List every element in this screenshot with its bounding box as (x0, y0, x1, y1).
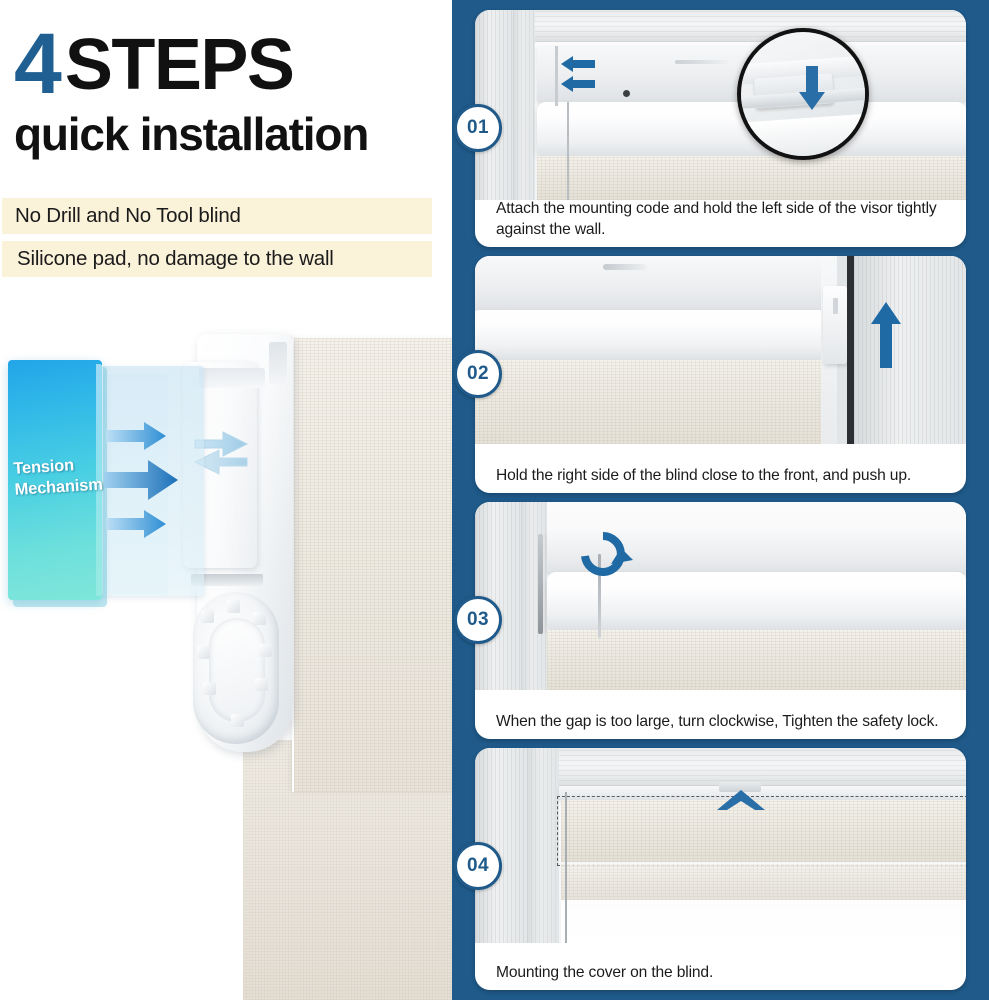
infographic-page: 4STEPS quick installation No Drill and N… (0, 0, 989, 1000)
blind-fabric (547, 630, 966, 690)
screw-hole (623, 90, 630, 97)
step-photo-02 (475, 256, 966, 444)
tension-mechanism-label: Tension Mechanism (13, 453, 109, 501)
highlight-bar-no-drill: No Drill and No Tool blind (2, 198, 432, 234)
leader-line (567, 102, 569, 200)
window-frame-inner (521, 502, 547, 690)
step-badge-04: 04 (454, 842, 502, 890)
wheel-tooth (231, 714, 244, 727)
blind-fabric (475, 360, 821, 444)
valance-tube (475, 310, 827, 362)
blind-fabric (537, 156, 966, 200)
blind-left-edge (565, 792, 567, 943)
tension-arrow-icon (104, 414, 184, 554)
step-caption-01: Attach the mounting code and hold the le… (496, 199, 952, 240)
step-caption-03: When the gap is too large, turn clockwis… (496, 712, 952, 732)
window-frame-inner (513, 10, 535, 200)
mount-up-arrow-icon (717, 790, 765, 812)
magnifier-down-arrow-icon (799, 66, 825, 110)
safety-lock-pin (538, 534, 543, 634)
highlight-text-2: Silicone pad, no damage to the wall (17, 247, 334, 271)
bracket-top-post (269, 342, 287, 384)
clockwise-rotate-arrow-icon (577, 530, 633, 576)
page-subtitle: quick installation (14, 108, 434, 161)
bracket-wheel-hub (209, 618, 265, 722)
step-badge-01: 01 (454, 104, 502, 152)
left-panel: 4STEPS quick installation No Drill and N… (0, 0, 452, 1000)
push-up-arrow-icon (871, 302, 901, 368)
wheel-tooth (259, 644, 272, 657)
valance-tube (547, 572, 966, 632)
step-card-02: Hold the right side of the blind close t… (475, 256, 966, 493)
window-frame-inner (527, 748, 559, 943)
wheel-tooth (227, 600, 240, 613)
step-card-03: When the gap is too large, turn clockwis… (475, 502, 966, 739)
highlight-bar-silicone-pad: Silicone pad, no damage to the wall (2, 241, 432, 277)
left-push-arrows-icon (561, 56, 597, 96)
mounting-clip (675, 60, 733, 64)
cover-clip (603, 264, 647, 270)
tension-mechanism-diagram: Tension Mechanism (8, 360, 208, 610)
step-caption-02: Hold the right side of the blind close t… (496, 466, 952, 486)
wheel-tooth (197, 646, 210, 659)
blind-fabric (561, 864, 966, 900)
page-title: 4STEPS (14, 24, 434, 106)
step-photo-01 (475, 10, 966, 200)
wheel-tooth (203, 682, 216, 695)
bracket-slot (199, 368, 265, 388)
bracket-roller-wheel (193, 592, 279, 744)
step-badge-02: 02 (454, 350, 502, 398)
steps-panel: Attach the mounting code and hold the le… (452, 0, 989, 1000)
blind-fabric-slab (292, 338, 452, 792)
step-card-04: Mounting the cover on the blind. (475, 748, 966, 990)
window-glass (561, 900, 966, 943)
headrail (475, 256, 821, 312)
highlight-text-1: No Drill and No Tool blind (15, 204, 241, 228)
step-card-01: Attach the mounting code and hold the le… (475, 10, 966, 247)
magnified-base (737, 112, 869, 160)
wheel-tooth (201, 610, 214, 623)
wheel-tooth (255, 678, 268, 691)
wheel-tooth (253, 612, 266, 625)
title-word: STEPS (65, 25, 294, 105)
window-frame-top (535, 10, 966, 42)
title-number: 4 (14, 24, 59, 106)
bracket-edge (555, 46, 558, 106)
step-photo-04 (475, 748, 966, 943)
step-photo-03 (475, 502, 966, 690)
window-gap (847, 256, 854, 444)
window-frame-top (559, 748, 966, 786)
tension-force-arrows (104, 414, 184, 554)
end-cap-slot (833, 298, 838, 314)
step-caption-04: Mounting the cover on the blind. (496, 963, 952, 983)
step-badge-03: 03 (454, 596, 502, 644)
magnifier-detail-01 (737, 28, 869, 160)
heading-block: 4STEPS quick installation (14, 24, 434, 161)
